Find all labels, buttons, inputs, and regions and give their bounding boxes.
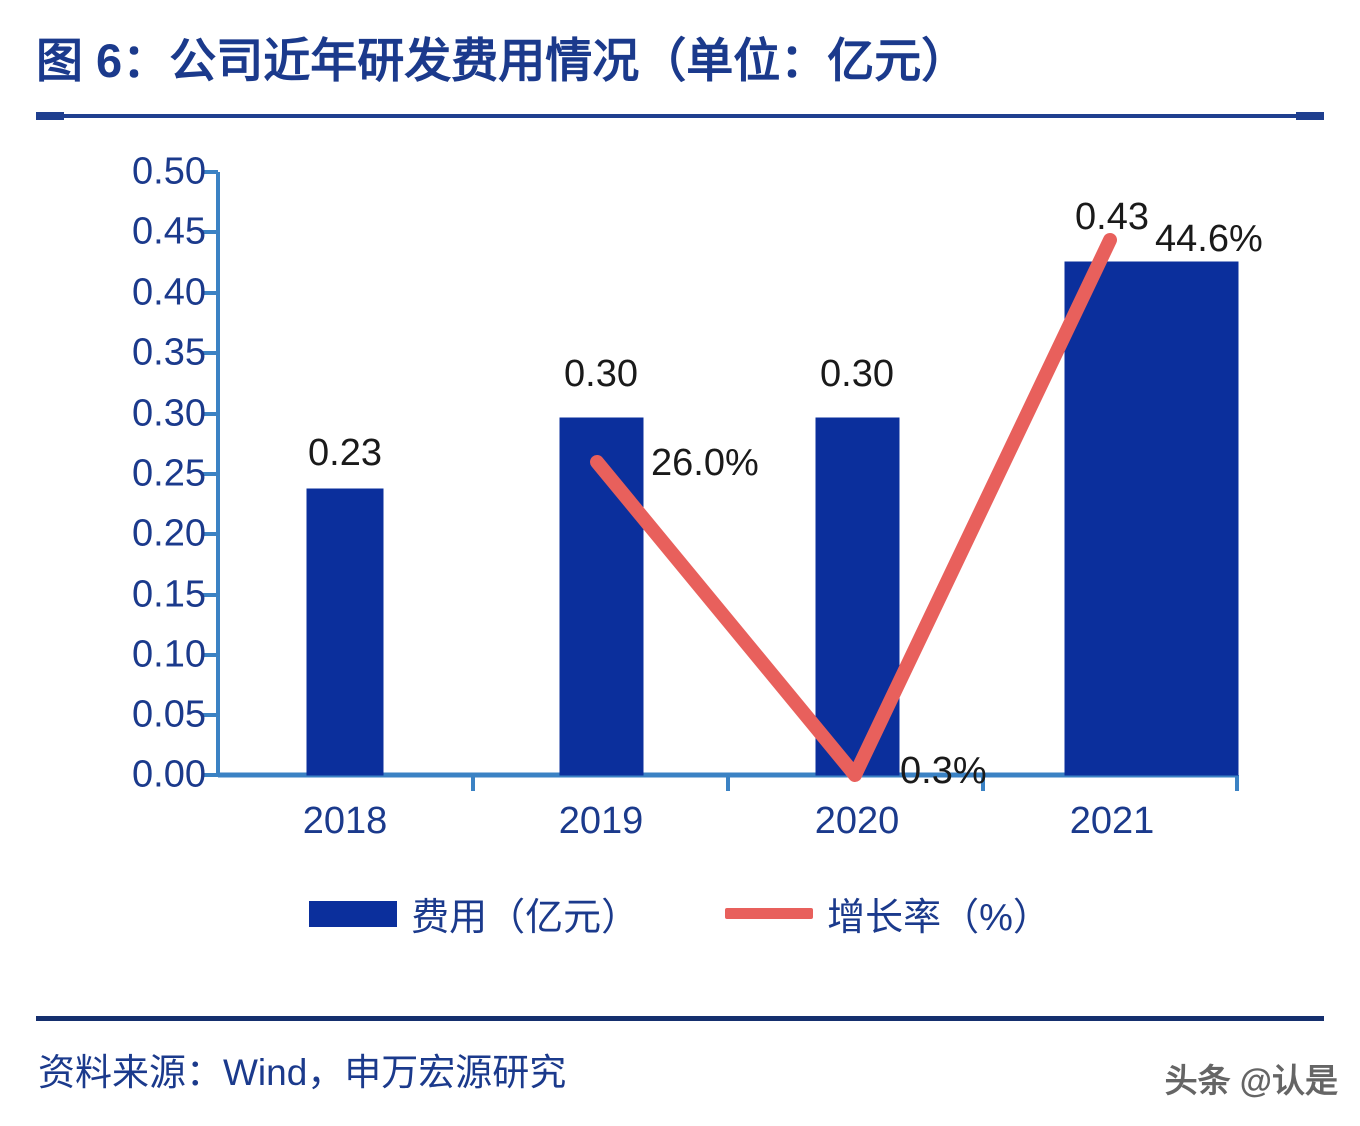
watermark-label: 头条 @认是 [1165, 1054, 1338, 1102]
x-axis-label-2019: 2019 [559, 800, 644, 843]
y-tick-label: 0.20 [96, 513, 206, 556]
y-tick-label: 0.35 [96, 332, 206, 375]
growth-label-2021: 44.6% [1155, 218, 1263, 261]
y-tick-label: 0.50 [96, 151, 206, 194]
source-note: 资料来源：Wind，申万宏源研究 [38, 1042, 566, 1096]
legend-item-growth-rate: 增长率（%） [725, 886, 1051, 941]
bar-value-label-2019: 0.30 [564, 353, 638, 396]
bar-value-label-2020: 0.30 [820, 353, 894, 396]
x-axis-label-2018: 2018 [303, 800, 388, 843]
bar-2021 [1065, 262, 1238, 775]
figure-page: 图 6：公司近年研发费用情况（单位：亿元） [0, 0, 1360, 1126]
y-tick-label: 0.45 [96, 211, 206, 254]
bar-2018 [307, 489, 383, 775]
bar-swatch-icon [309, 901, 397, 927]
y-tick-label: 0.00 [96, 754, 206, 797]
bar-value-label-2021: 0.43 [1075, 196, 1149, 239]
legend-label-growth-rate: 增长率（%） [827, 886, 1051, 941]
y-tick-label: 0.05 [96, 694, 206, 737]
x-axis-label-2020: 2020 [815, 800, 900, 843]
legend-item-expense: 费用（亿元） [309, 886, 639, 941]
y-axis-labels: 0.50 0.45 0.40 0.35 0.30 0.25 0.20 0.15 … [88, 0, 206, 1010]
y-tick-label: 0.10 [96, 634, 206, 677]
footer-divider [36, 1016, 1324, 1021]
y-tick-label: 0.15 [96, 574, 206, 617]
y-tick-label: 0.40 [96, 272, 206, 315]
y-tick-label: 0.30 [96, 393, 206, 436]
legend-label-expense: 费用（亿元） [411, 886, 639, 941]
y-tick-label: 0.25 [96, 453, 206, 496]
growth-label-2019: 26.0% [651, 442, 759, 485]
growth-label-2020: 0.3% [900, 750, 987, 793]
chart-area: 0.50 0.45 0.40 0.35 0.30 0.25 0.20 0.15 … [0, 0, 1360, 1010]
bar-value-label-2018: 0.23 [308, 432, 382, 475]
line-swatch-icon [725, 908, 813, 919]
x-axis-label-2021: 2021 [1070, 800, 1155, 843]
chart-legend: 费用（亿元） 增长率（%） [0, 886, 1360, 941]
